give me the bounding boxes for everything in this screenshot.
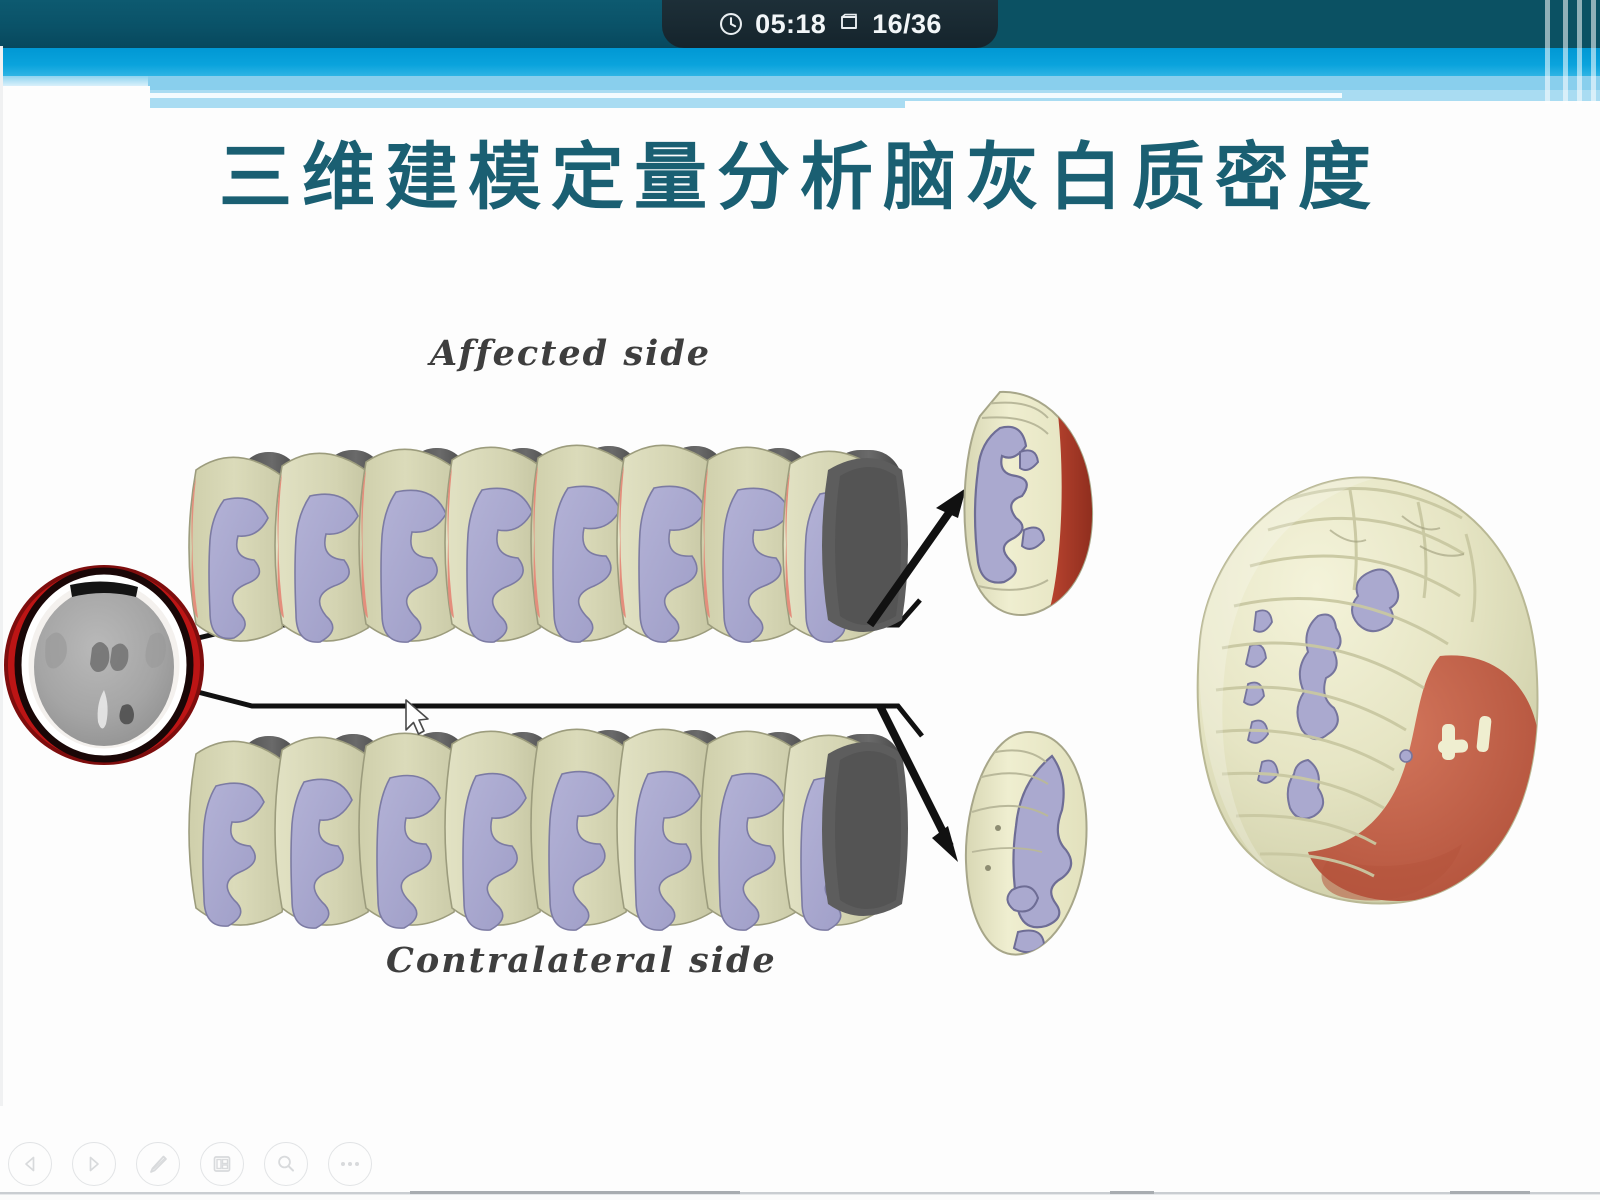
triangle-left-icon	[19, 1153, 41, 1175]
previous-slide-button[interactable]	[8, 1142, 52, 1186]
pen-icon	[146, 1152, 170, 1176]
slide-viewer: 05:18 16/36 三维建模定量分析脑灰白质密度 Affected side…	[0, 0, 1600, 1200]
annotate-button[interactable]	[136, 1142, 180, 1186]
status-pill: 05:18 16/36	[662, 0, 998, 48]
triangle-right-icon	[83, 1153, 105, 1175]
bottom-edge	[0, 1194, 1600, 1200]
contralateral-hemisphere-inset	[966, 732, 1087, 955]
next-slide-button[interactable]	[72, 1142, 116, 1186]
zoom-button[interactable]	[264, 1142, 308, 1186]
clock-icon	[718, 11, 744, 37]
ellipsis-icon	[338, 1159, 362, 1169]
bottom-toolbar	[8, 1142, 372, 1186]
slide-panel-button[interactable]	[200, 1142, 244, 1186]
affected-hemisphere-inset	[964, 392, 1094, 615]
slide-counter: 16/36	[872, 9, 942, 40]
contralateral-slice-stack	[189, 729, 908, 930]
magnifier-icon	[274, 1152, 298, 1176]
more-button[interactable]	[328, 1142, 372, 1186]
figure-stage	[0, 0, 1600, 1200]
slide-icon	[837, 12, 861, 36]
affected-slice-stack	[189, 445, 908, 642]
brain-3d-model	[1198, 477, 1540, 903]
slides-grid-icon	[210, 1152, 234, 1176]
axial-head-ct	[4, 565, 204, 765]
elapsed-time: 05:18	[755, 9, 826, 40]
